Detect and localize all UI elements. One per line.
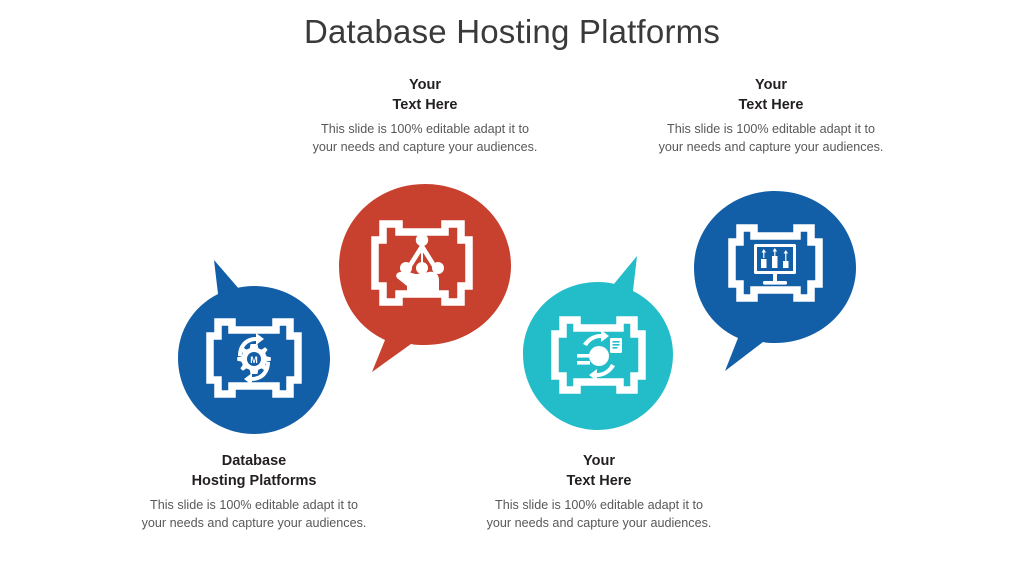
callout-blue-left-shape: M: [170, 272, 338, 440]
page-title: Database Hosting Platforms: [0, 12, 1024, 52]
text-block-body: This slide is 100% editable adapt it to …: [634, 121, 908, 156]
text-block-body: This slide is 100% editable adapt it to …: [288, 121, 562, 156]
callout-blue-right-shape: [690, 188, 860, 358]
text-block-top-right: Your Text Here This slide is 100% editab…: [634, 76, 908, 156]
callout-red-shape: [335, 182, 515, 362]
callout-teal-shape: [513, 268, 683, 438]
text-block-heading: Your Text Here: [634, 76, 908, 115]
text-block-body: This slide is 100% editable adapt it to …: [113, 497, 395, 532]
text-block-bottom-left: Database Hosting Platforms This slide is…: [113, 452, 395, 532]
callout-bubble-red[interactable]: [335, 182, 515, 362]
callout-bubble-blue-left[interactable]: M: [170, 272, 338, 440]
text-block-body: This slide is 100% editable adapt it to …: [458, 497, 740, 532]
text-block-bottom-center: Your Text Here This slide is 100% editab…: [458, 452, 740, 532]
callout-bubble-teal[interactable]: [513, 268, 683, 438]
svg-text:M: M: [250, 355, 258, 365]
text-block-heading: Database Hosting Platforms: [113, 452, 395, 491]
text-block-top-left: Your Text Here This slide is 100% editab…: [288, 76, 562, 156]
text-block-heading: Your Text Here: [458, 452, 740, 491]
slide-canvas: Database Hosting Platforms: [0, 0, 1024, 576]
text-block-heading: Your Text Here: [288, 76, 562, 115]
callout-bubble-blue-right[interactable]: [690, 188, 860, 358]
bubble-body: [523, 256, 673, 430]
